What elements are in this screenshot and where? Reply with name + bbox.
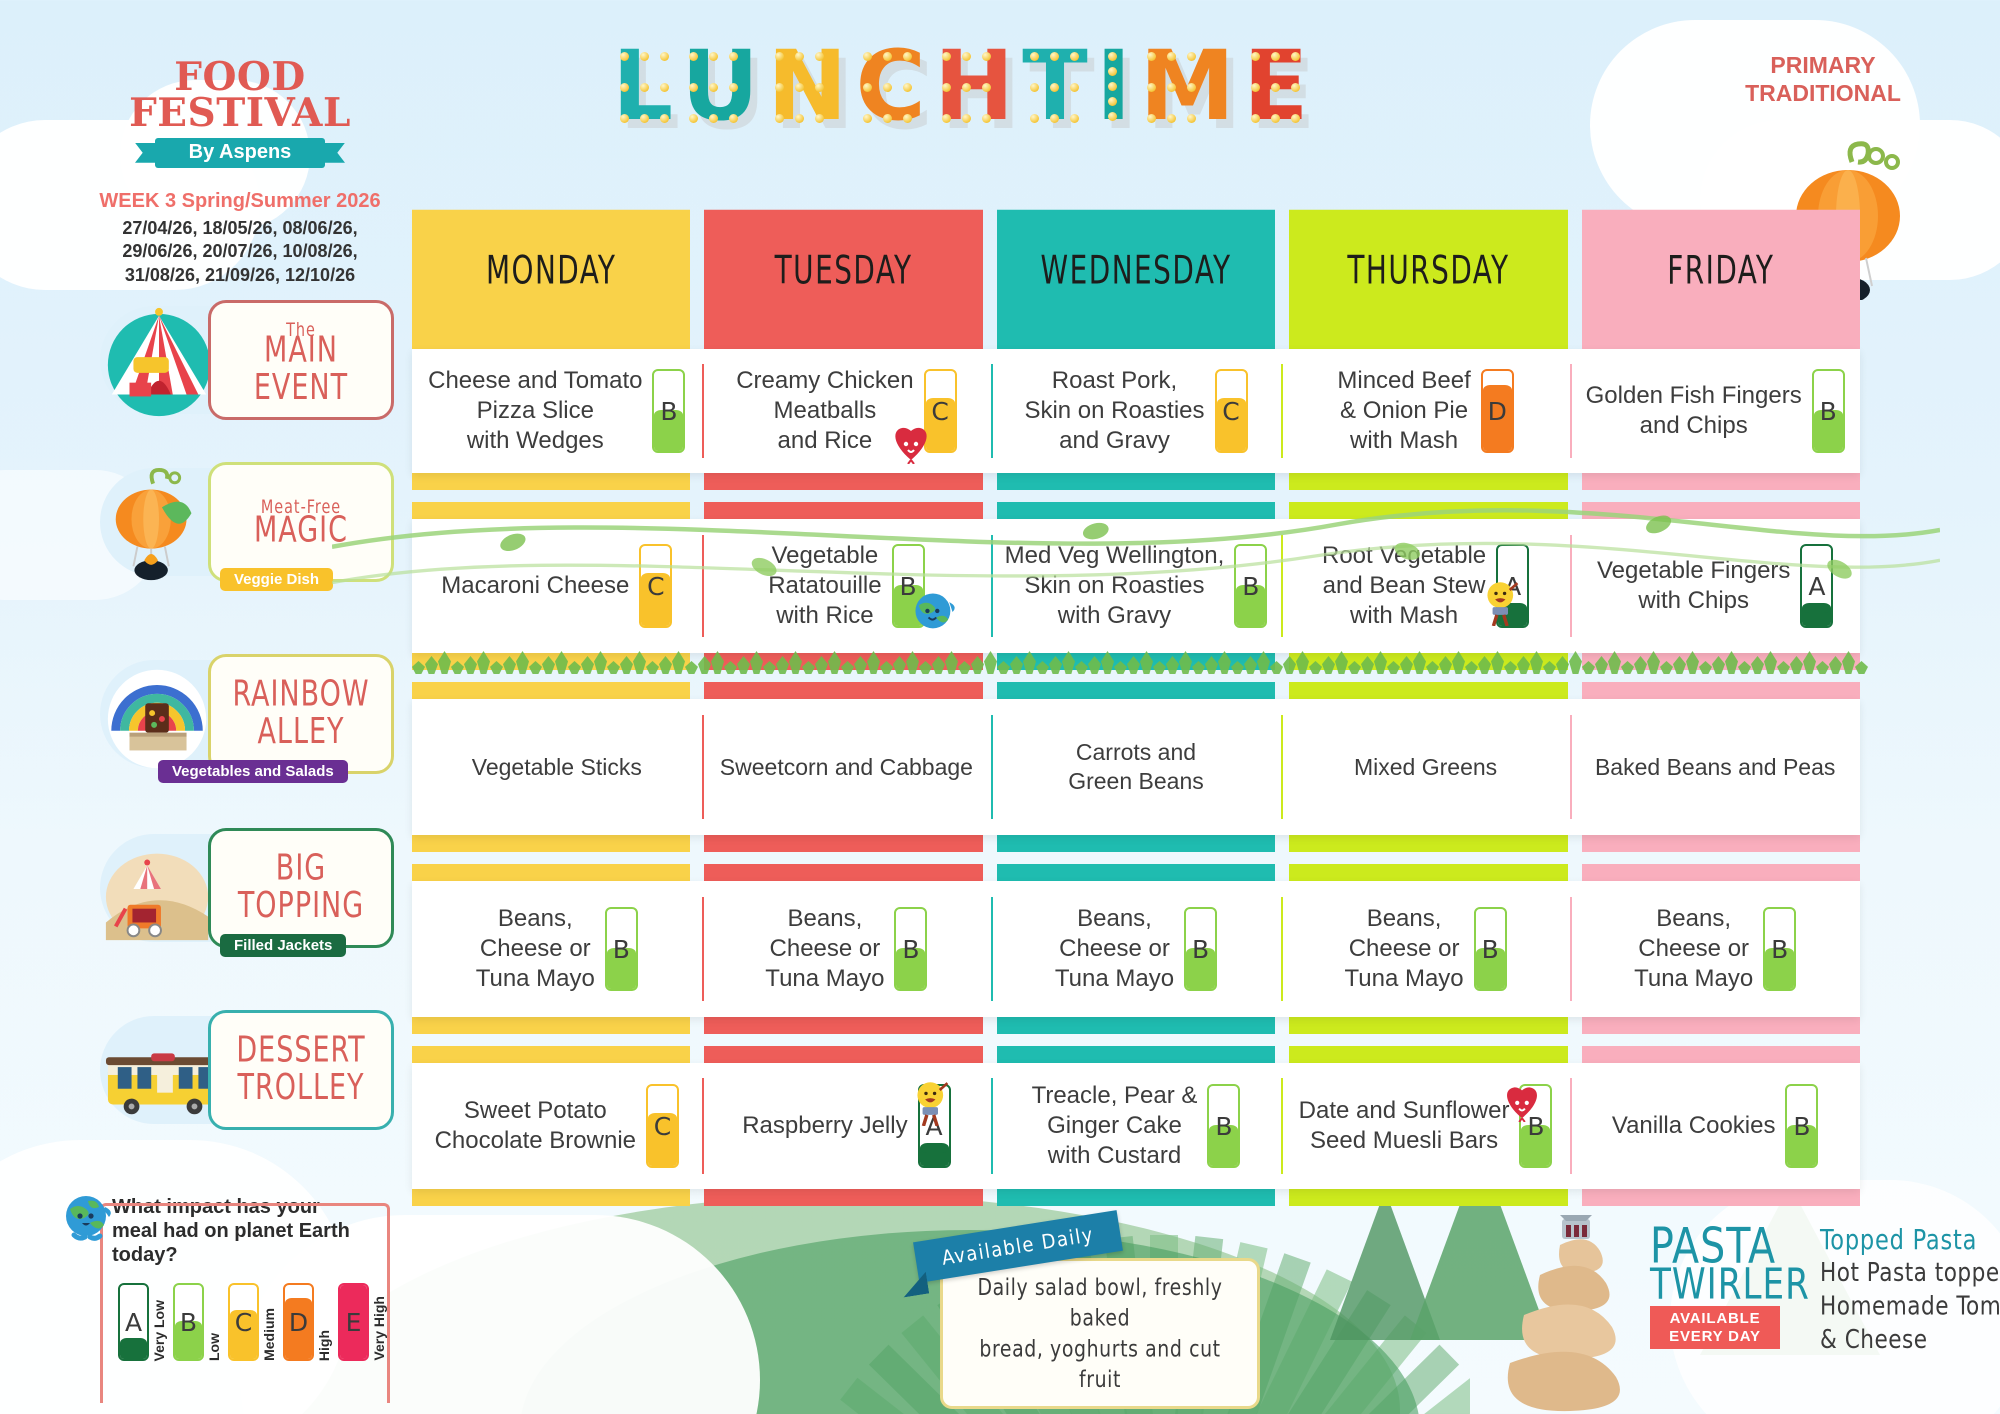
day-header-thursday[interactable]: THURSDAY	[1289, 210, 1567, 333]
menu-cell[interactable]: Sweetcorn and Cabbage	[702, 699, 992, 835]
eco-impact-badge-b: B	[1785, 1084, 1818, 1168]
color-stripe	[997, 682, 1275, 699]
day-header-friday[interactable]: FRIDAY	[1582, 210, 1860, 333]
color-stripe	[1582, 653, 1860, 670]
row-color-stripes-top	[412, 864, 1860, 881]
meal-name: Vegetable Fingers with Chips	[1597, 556, 1790, 616]
pasta-description: Topped Pasta Hot Pasta topped with Homem…	[1820, 1225, 2000, 1354]
week-label: WEEK 3 Spring/Summer 2026	[95, 190, 385, 213]
color-stripe	[1582, 835, 1860, 852]
color-stripe	[412, 1046, 690, 1063]
row-color-stripes-top	[412, 332, 1860, 349]
title-letter: II	[1094, 38, 1134, 134]
category-title: MAIN EVENT	[254, 333, 348, 406]
row-color-stripes-top	[412, 502, 1860, 519]
eco-impact-badge-a: A	[1800, 544, 1833, 628]
menu-cell[interactable]: Sweet Potato Chocolate BrownieC	[412, 1063, 702, 1189]
color-stripe	[997, 835, 1275, 852]
day-header-tuesday[interactable]: TUESDAY	[704, 210, 982, 333]
menu-cell[interactable]: Root Vegetable and Bean Stew with MashA	[1281, 519, 1571, 653]
color-stripe	[412, 502, 690, 519]
color-stripe	[704, 332, 982, 349]
menu-row-cells: Vegetable SticksSweetcorn and CabbageCar…	[412, 699, 1860, 835]
legend-scale-caption: Medium	[261, 1308, 277, 1361]
color-stripe	[997, 1017, 1275, 1034]
title-letter: MM	[1137, 38, 1237, 134]
color-stripe	[412, 835, 690, 852]
category-plaque: TheMAIN EVENT	[208, 300, 394, 420]
eco-impact-badge-b: B	[1234, 544, 1267, 628]
available-daily-block: Daily salad bowl, freshly baked bread, y…	[940, 1258, 1260, 1409]
menu-cell[interactable]: Vegetable Sticks	[412, 699, 702, 835]
category-badge: Veggie Dish	[220, 568, 333, 591]
menu-row-cells: Beans, Cheese or Tuna MayoBBeans, Cheese…	[412, 881, 1860, 1017]
color-stripe	[1582, 864, 1860, 881]
category-plaque: DESSERT TROLLEY	[208, 1010, 394, 1130]
eco-impact-badge-b: B	[173, 1283, 204, 1361]
color-stripe	[1289, 1189, 1567, 1206]
eco-impact-badge-b: B	[605, 907, 638, 991]
color-stripe	[1289, 1017, 1567, 1034]
color-stripe	[704, 1017, 982, 1034]
title-letter: HH	[932, 38, 1016, 134]
menu-cell[interactable]: Baked Beans and Peas	[1570, 699, 1860, 835]
meal-name: Beans, Cheese or Tuna Mayo	[765, 904, 884, 993]
eco-grade-letter: B	[1209, 1086, 1238, 1166]
meal-name: Macaroni Cheese	[441, 571, 629, 601]
color-stripe	[704, 864, 982, 881]
category-label-dessert-trolley[interactable]: DESSERT TROLLEY	[100, 1010, 400, 1130]
eco-impact-badge-b: B	[1207, 1084, 1240, 1168]
menu-row-rainbow-alley: Vegetable SticksSweetcorn and CabbageCar…	[412, 682, 1860, 852]
circus-tent-icon	[100, 304, 218, 422]
menu-grid: MONDAYTUESDAYWEDNESDAYTHURSDAYFRIDAY Che…	[412, 222, 1860, 1206]
eco-grade-letter: B	[654, 371, 683, 451]
eco-grade-letter: B	[1186, 909, 1215, 989]
color-stripe	[997, 1046, 1275, 1063]
color-stripe	[1289, 502, 1567, 519]
meal-name: Golden Fish Fingers and Chips	[1586, 381, 1802, 441]
meal-name: Beans, Cheese or Tuna Mayo	[1344, 904, 1463, 993]
row-color-stripes-top	[412, 682, 1860, 699]
menu-cell[interactable]: Vanilla CookiesB	[1570, 1063, 1860, 1189]
meal-name: Baked Beans and Peas	[1595, 753, 1835, 782]
menu-cell[interactable]: Beans, Cheese or Tuna MayoB	[1570, 881, 1860, 1017]
pasta-body: Hot Pasta topped with Homemade Tomato Sa…	[1820, 1256, 2000, 1357]
menu-row-dessert-trolley: Sweet Potato Chocolate BrownieCRaspberry…	[412, 1046, 1860, 1206]
color-stripe	[997, 502, 1275, 519]
category-title: MAGIC	[254, 513, 348, 550]
meal-name: Root Vegetable and Bean Stew with Mash	[1322, 541, 1486, 630]
category-label-main-event[interactable]: TheMAIN EVENT	[100, 300, 400, 420]
row-color-stripes-bottom	[412, 473, 1860, 490]
menu-cell[interactable]: Vegetable Fingers with ChipsA	[1570, 519, 1860, 653]
color-stripe	[704, 502, 982, 519]
food-cart-icon	[100, 832, 218, 950]
heart-mascot-icon	[1500, 1078, 1544, 1122]
meal-name: Sweet Potato Chocolate Brownie	[435, 1096, 636, 1156]
eco-grade-letter: C	[648, 1086, 677, 1166]
row-color-stripes-bottom	[412, 835, 1860, 852]
pasta-availability-badge: AVAILABLE EVERY DAY	[1650, 1306, 1780, 1349]
eco-grade-letter: B	[1476, 909, 1505, 989]
category-plaque: RAINBOW ALLEY	[208, 654, 394, 774]
eco-grade-letter: A	[120, 1285, 147, 1359]
color-stripe	[412, 473, 690, 490]
eco-grade-letter: C	[1217, 371, 1246, 451]
color-stripe	[997, 473, 1275, 490]
category-label-big-topping[interactable]: BIG TOPPINGFilled Jackets	[100, 828, 400, 948]
legend-scale-caption: High	[316, 1330, 332, 1361]
meal-name: Minced Beef & Onion Pie with Mash	[1337, 366, 1470, 455]
menu-row-cells: Macaroni CheeseCVegetable Ratatouille wi…	[412, 519, 1860, 653]
category-plaque: Meat-FreeMAGIC	[208, 462, 394, 582]
title-letter: UU	[679, 38, 761, 134]
eco-impact-badge-b: B	[1812, 369, 1845, 453]
color-stripe	[1289, 653, 1567, 670]
color-stripe	[412, 1017, 690, 1034]
eco-grade-letter: A	[1802, 546, 1831, 626]
color-stripe	[997, 653, 1275, 670]
legend-scale-caption: Very High	[371, 1296, 387, 1361]
color-stripe	[1582, 1046, 1860, 1063]
brand-block: FOOD FESTIVAL By Aspens WEEK 3 Spring/Su…	[95, 60, 385, 287]
color-stripe	[1289, 864, 1567, 881]
meal-name: Treacle, Pear & Ginger Cake with Custard	[1032, 1081, 1198, 1170]
pasta-name: PASTA TWIRLER AVAILABLE EVERY DAY	[1650, 1227, 1810, 1349]
menu-row-meat-free-magic: Macaroni CheeseCVegetable Ratatouille wi…	[412, 502, 1860, 670]
color-stripe	[704, 835, 982, 852]
meal-name: Carrots and Green Beans	[1068, 738, 1204, 795]
color-stripe	[1289, 835, 1567, 852]
meal-name: Beans, Cheese or Tuna Mayo	[476, 904, 595, 993]
day-header-label: THURSDAY	[1347, 249, 1509, 294]
pasta-heading: Topped Pasta	[1820, 1224, 2000, 1256]
eco-impact-badge-d: D	[283, 1283, 314, 1361]
day-header-label: WEDNESDAY	[1041, 249, 1232, 294]
menu-cell[interactable]: Creamy Chicken Meatballs and RiceC	[702, 349, 992, 473]
category-plaque: BIG TOPPING	[208, 828, 394, 948]
meal-name: Roast Pork, Skin on Roasties and Gravy	[1024, 366, 1204, 455]
eco-grade-letter: D	[285, 1285, 312, 1359]
eco-impact-legend: What impact has your meal had on planet …	[60, 1195, 390, 1361]
color-stripe	[1582, 1017, 1860, 1034]
color-stripe	[1289, 473, 1567, 490]
title-letter: NN	[765, 38, 849, 134]
meal-name: Vanilla Cookies	[1612, 1111, 1776, 1141]
rainbow-stall-icon	[100, 658, 218, 776]
eco-grade-letter: D	[1483, 371, 1512, 451]
menu-cell[interactable]: Med Veg Wellington, Skin on Roasties wit…	[991, 519, 1281, 653]
meal-name: Mixed Greens	[1354, 753, 1497, 782]
menu-cell[interactable]: Roast Pork, Skin on Roasties and GravyC	[991, 349, 1281, 473]
eco-impact-badge-b: B	[894, 907, 927, 991]
color-stripe	[1289, 1046, 1567, 1063]
row-color-stripes-bottom	[412, 1189, 1860, 1206]
bulb-mascot-icon	[908, 1078, 956, 1126]
color-stripe	[1582, 682, 1860, 699]
day-header-monday[interactable]: MONDAY	[412, 210, 690, 333]
category-badge: Vegetables and Salads	[158, 760, 348, 783]
menu-cell[interactable]: Beans, Cheese or Tuna MayoB	[991, 881, 1281, 1017]
menu-cell[interactable]: Macaroni CheeseC	[412, 519, 702, 653]
meal-name: Vegetable Ratatouille with Rice	[768, 541, 881, 630]
menu-type-label: PRIMARY TRADITIONAL	[1708, 52, 1938, 107]
eco-grade-letter: C	[641, 546, 670, 626]
eco-impact-badge-c: C	[1215, 369, 1248, 453]
title-letter: EE	[1241, 38, 1311, 134]
available-daily-text: Daily salad bowl, freshly baked bread, y…	[957, 1272, 1243, 1394]
menu-cell[interactable]: Beans, Cheese or Tuna MayoB	[1281, 881, 1571, 1017]
eco-impact-badge-b: B	[1474, 907, 1507, 991]
available-daily-box: Daily salad bowl, freshly baked bread, y…	[940, 1258, 1260, 1409]
color-stripe	[1289, 682, 1567, 699]
color-stripe	[1289, 332, 1567, 349]
eco-impact-badge-b: B	[652, 369, 685, 453]
color-stripe	[1582, 332, 1860, 349]
eco-grade-letter: C	[230, 1285, 257, 1359]
color-stripe	[997, 332, 1275, 349]
brand-ribbon: By Aspens	[155, 138, 325, 168]
color-stripe	[412, 653, 690, 670]
category-title: RAINBOW ALLEY	[232, 677, 369, 750]
color-stripe	[704, 473, 982, 490]
eco-grade-letter: B	[896, 909, 925, 989]
eco-grade-letter: B	[1787, 1086, 1816, 1166]
menu-row-cells: Sweet Potato Chocolate BrownieCRaspberry…	[412, 1063, 1860, 1189]
eco-grade-letter: E	[340, 1285, 367, 1359]
eco-grade-letter: B	[1236, 546, 1265, 626]
page-title: LLUUNNCCHHTTIIMMEE	[610, 38, 1311, 134]
heart-mascot-icon	[888, 418, 934, 464]
menu-cell[interactable]: Minced Beef & Onion Pie with MashD	[1281, 349, 1571, 473]
category-label-rainbow-alley[interactable]: RAINBOW ALLEYVegetables and Salads	[100, 654, 400, 774]
row-color-stripes-top	[412, 1046, 1860, 1063]
eco-impact-badge-c: C	[646, 1084, 679, 1168]
color-stripe	[1582, 1189, 1860, 1206]
menu-row-cells: Cheese and Tomato Pizza Slice with Wedge…	[412, 349, 1860, 473]
pasta-twirler-block: PASTA TWIRLER AVAILABLE EVERY DAY Topped…	[1500, 1225, 1990, 1414]
menu-cell[interactable]: Carrots and Green Beans	[991, 699, 1281, 835]
title-letter: TT	[1020, 38, 1089, 134]
color-stripe	[704, 682, 982, 699]
brand-line-2: FESTIVAL	[95, 96, 385, 132]
color-stripe	[704, 1046, 982, 1063]
title-letter: LL	[610, 38, 675, 134]
eco-impact-badge-c: C	[639, 544, 672, 628]
menu-cell[interactable]: Mixed Greens	[1281, 699, 1571, 835]
meal-name: Sweetcorn and Cabbage	[720, 753, 973, 782]
color-stripe	[412, 1189, 690, 1206]
menu-cell[interactable]: Treacle, Pear & Ginger Cake with Custard…	[991, 1063, 1281, 1189]
category-label-meat-free-magic[interactable]: Meat-FreeMAGICVeggie Dish	[100, 462, 400, 582]
category-title: DESSERT TROLLEY	[236, 1033, 365, 1106]
day-header-row: MONDAYTUESDAYWEDNESDAYTHURSDAYFRIDAY	[412, 222, 1860, 320]
row-color-stripes-bottom	[412, 653, 1860, 670]
color-stripe	[412, 332, 690, 349]
eco-grade-letter: B	[1814, 371, 1843, 451]
legend-scale-caption: Very Low	[151, 1300, 167, 1361]
day-header-label: MONDAY	[486, 249, 617, 294]
color-stripe	[997, 864, 1275, 881]
menu-cell[interactable]: Beans, Cheese or Tuna MayoB	[412, 881, 702, 1017]
meal-name: Raspberry Jelly	[742, 1111, 907, 1141]
menu-row-main-event: Cheese and Tomato Pizza Slice with Wedge…	[412, 332, 1860, 490]
legend-scale-caption: Low	[206, 1333, 222, 1361]
earth-mascot-icon	[910, 588, 958, 636]
menu-cell[interactable]: Cheese and Tomato Pizza Slice with Wedge…	[412, 349, 702, 473]
eco-impact-badge-b: B	[1184, 907, 1217, 991]
meal-name: Med Veg Wellington, Skin on Roasties wit…	[1005, 541, 1225, 630]
eco-impact-badge-c: C	[228, 1283, 259, 1361]
row-color-stripes-bottom	[412, 1017, 1860, 1034]
color-stripe	[412, 864, 690, 881]
category-title: BIG TOPPING	[238, 851, 364, 924]
eco-grade-letter: B	[1765, 909, 1794, 989]
menu-row-big-topping: Beans, Cheese or Tuna MayoBBeans, Cheese…	[412, 864, 1860, 1034]
pumpkin-balloon-icon	[100, 466, 218, 584]
meal-name: Beans, Cheese or Tuna Mayo	[1634, 904, 1753, 993]
color-stripe	[997, 1189, 1275, 1206]
meal-name: Date and Sunflower Seed Muesli Bars	[1299, 1096, 1510, 1156]
eco-impact-badge-a: A	[118, 1283, 149, 1361]
pasta-name-line-2: TWIRLER	[1650, 1265, 1810, 1304]
earth-mascot-icon	[60, 1189, 116, 1245]
day-header-label: TUESDAY	[775, 249, 913, 294]
day-header-label: FRIDAY	[1667, 249, 1774, 294]
eco-impact-badge-d: D	[1481, 369, 1514, 453]
bulb-mascot-icon	[1478, 578, 1526, 626]
color-stripe	[412, 682, 690, 699]
menu-cell[interactable]: Beans, Cheese or Tuna MayoB	[702, 881, 992, 1017]
meal-name: Vegetable Sticks	[472, 753, 642, 782]
color-stripe	[1582, 502, 1860, 519]
day-header-wednesday[interactable]: WEDNESDAY	[997, 210, 1275, 333]
pasta-swirl-icon	[1500, 1215, 1660, 1414]
week-dates: 27/04/26, 18/05/26, 08/06/26, 29/06/26, …	[95, 217, 385, 287]
color-stripe	[704, 1189, 982, 1206]
meal-name: Cheese and Tomato Pizza Slice with Wedge…	[428, 366, 642, 455]
meal-name: Beans, Cheese or Tuna Mayo	[1055, 904, 1174, 993]
eco-grade-letter: B	[607, 909, 636, 989]
menu-cell[interactable]: Golden Fish Fingers and ChipsB	[1570, 349, 1860, 473]
title-letter: CC	[853, 38, 927, 134]
eco-impact-badge-e: E	[338, 1283, 369, 1361]
color-stripe	[1582, 473, 1860, 490]
eco-impact-badge-b: B	[1763, 907, 1796, 991]
color-stripe	[704, 653, 982, 670]
eco-grade-letter: B	[175, 1285, 202, 1359]
meal-name: Creamy Chicken Meatballs and Rice	[736, 366, 913, 455]
category-badge: Filled Jackets	[220, 934, 346, 957]
